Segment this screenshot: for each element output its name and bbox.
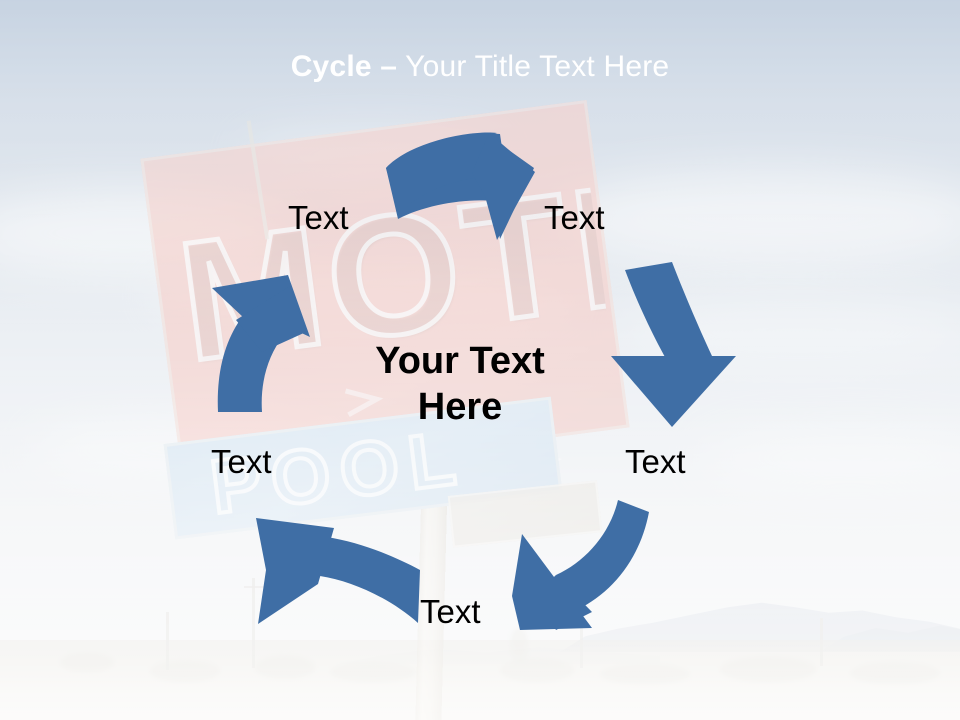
slide: MOTEL POOL Cycle — [0, 0, 960, 720]
arrow-bottom-left-icon-body[interactable] — [320, 537, 420, 623]
cycle-label-right[interactable]: Text — [625, 444, 686, 480]
cycle-center-label[interactable]: Your Text Here — [320, 338, 600, 430]
cycle-center-label-line1: Your Text — [320, 338, 600, 384]
cycle-label-bottom[interactable]: Text — [420, 594, 481, 630]
cycle-label-left[interactable]: Text — [211, 444, 272, 480]
arrow-right-head[interactable] — [611, 356, 736, 427]
cycle-diagram: Text Text Text Text Text Your Text Here — [0, 0, 960, 720]
cycle-center-label-line2: Here — [320, 384, 600, 430]
cycle-label-top-right[interactable]: Text — [544, 200, 605, 236]
cycle-label-top-left[interactable]: Text — [288, 200, 349, 236]
